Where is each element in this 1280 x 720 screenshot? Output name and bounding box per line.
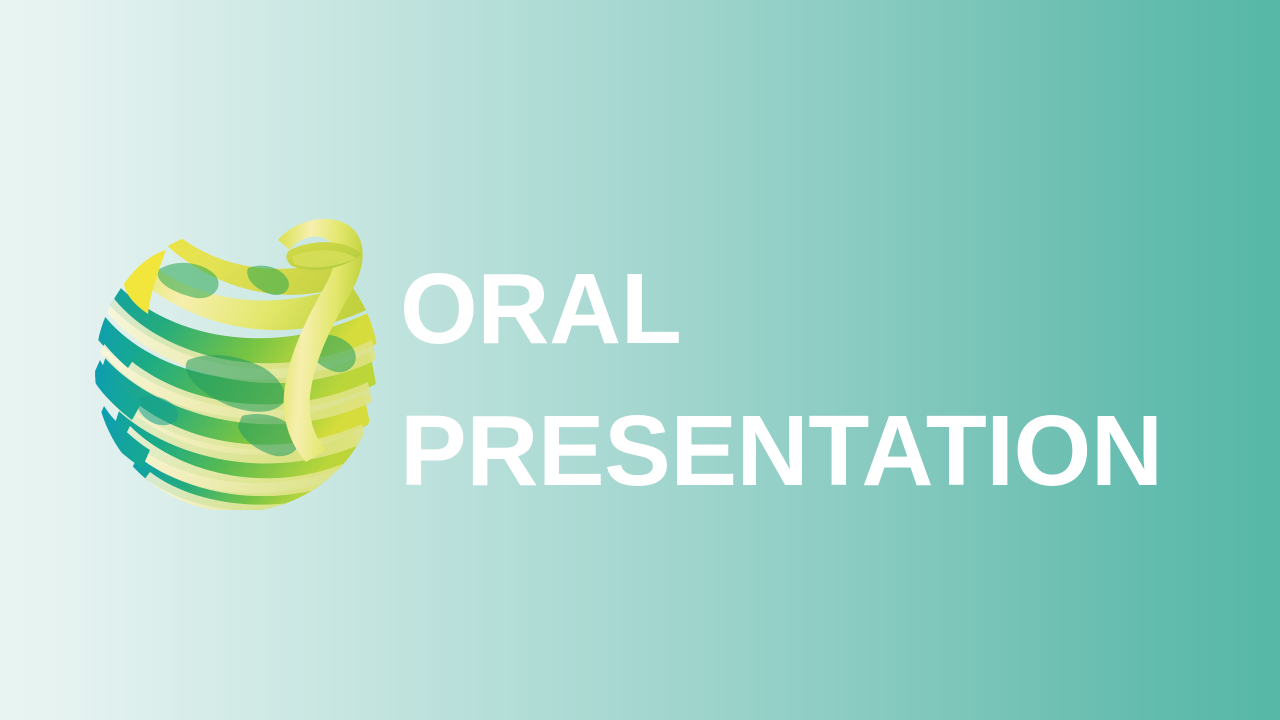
page-title: ORAL PRESENTATION bbox=[400, 238, 1200, 522]
title-line-2: PRESENTATION bbox=[400, 380, 1200, 522]
title-line-1: ORAL bbox=[400, 238, 1200, 380]
presentation-slide: ORAL PRESENTATION bbox=[0, 0, 1280, 720]
globe-ribbon-leaf-logo bbox=[92, 210, 382, 510]
